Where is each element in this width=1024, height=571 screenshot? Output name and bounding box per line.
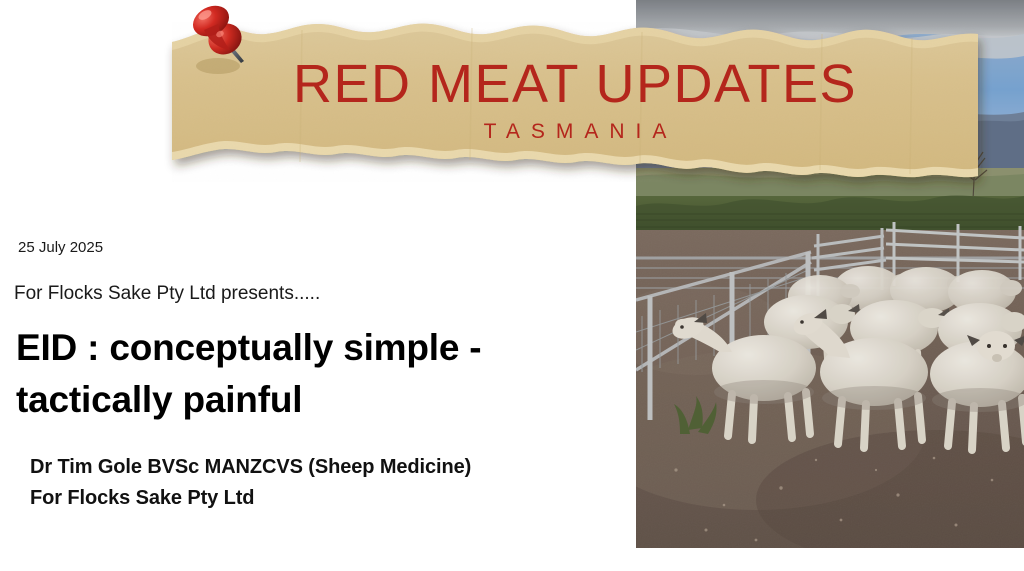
presenter-intro-label: For Flocks Sake Pty Ltd presents..... (14, 282, 320, 306)
slide-canvas: RED MEAT UPDATES TASMANIA (0, 0, 1024, 571)
pushpin-artwork (186, 0, 258, 72)
pushpin-icon (186, 0, 258, 72)
author-name-label: Dr Tim Gole BVSc MANZCVS (Sheep Medicine… (30, 452, 610, 483)
torn-paper-shape (172, 12, 978, 192)
title-line-2: tactically painful (16, 374, 616, 426)
author-block: Dr Tim Gole BVSc MANZCVS (Sheep Medicine… (30, 452, 610, 514)
page-title: EID : conceptually simple - tactically p… (16, 322, 616, 426)
red-meat-updates-banner: RED MEAT UPDATES TASMANIA (172, 12, 978, 192)
author-company-label: For Flocks Sake Pty Ltd (30, 483, 610, 514)
title-line-1: EID : conceptually simple - (16, 322, 616, 374)
date-label: 25 July 2025 (18, 238, 103, 258)
